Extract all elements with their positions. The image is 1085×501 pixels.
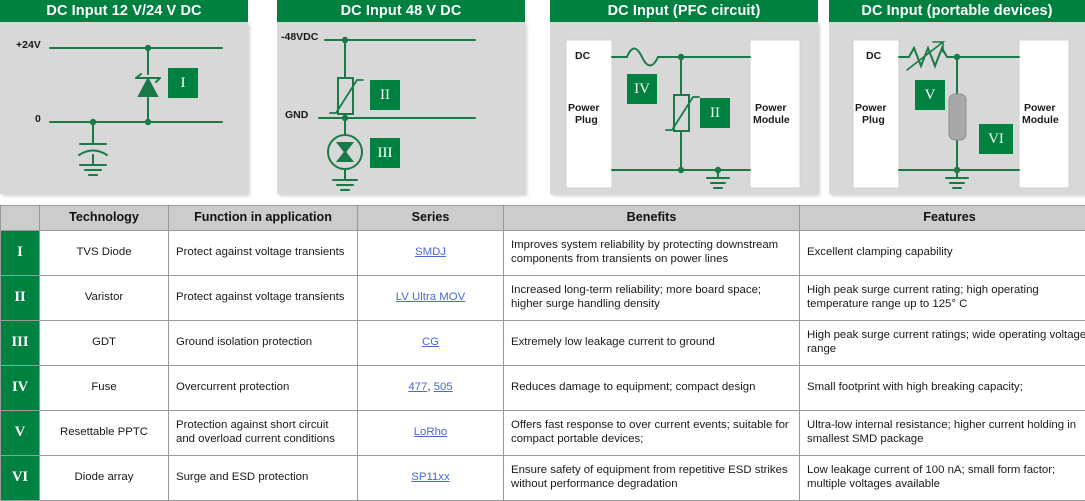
table-row: IIIGDTGround isolation protectionCGExtre… [1, 321, 1085, 366]
benefits-cell: Increased long-term reliability; more bo… [504, 276, 800, 321]
technology-cell: Diode array [40, 456, 169, 501]
row-number-cell: IV [1, 366, 40, 411]
rail-label-top: -48VDC [281, 31, 318, 43]
source-label-dc: DC [866, 50, 881, 62]
series-link[interactable]: LoRho [414, 426, 448, 438]
load-label-module: Module [753, 114, 790, 126]
technology-cell: Fuse [40, 366, 169, 411]
table-header-row: Technology Function in application Serie… [1, 206, 1085, 231]
series-cell: SMDJ [358, 231, 504, 276]
component-tag-II: II [370, 80, 400, 110]
header-function: Function in application [169, 206, 358, 231]
function-cell: Overcurrent protection [169, 366, 358, 411]
rail-label-top: +24V [16, 39, 41, 51]
panel-title: DC Input (portable devices) [829, 0, 1085, 22]
features-cell: Low leakage current of 100 nA; small for… [800, 456, 1085, 501]
row-number-cell: II [1, 276, 40, 321]
header-number [1, 206, 40, 231]
technology-cell: TVS Diode [40, 231, 169, 276]
component-tag-IV: IV [627, 74, 657, 104]
junction-dot [342, 115, 348, 121]
features-cell: High peak surge current rating; high ope… [800, 276, 1085, 321]
row-number-cell: VI [1, 456, 40, 501]
function-cell: Protect against voltage transients [169, 231, 358, 276]
benefits-cell: Ensure safety of equipment from repetiti… [504, 456, 800, 501]
series-link[interactable]: LV Ultra MOV [396, 291, 465, 303]
circuit-schematic-varistor-gdt [277, 22, 525, 194]
header-technology: Technology [40, 206, 169, 231]
source-label-power: Power [855, 102, 887, 114]
series-link[interactable]: 477 [408, 381, 427, 393]
row-number-cell: V [1, 411, 40, 456]
function-cell: Protect against voltage transients [169, 276, 358, 321]
series-link[interactable]: SMDJ [415, 246, 446, 258]
benefits-cell: Improves system reliability by protectin… [504, 231, 800, 276]
junction-dot [954, 167, 960, 173]
features-cell: Ultra-low internal resistance; higher cu… [800, 411, 1085, 456]
series-link[interactable]: SP11xx [411, 471, 449, 483]
junction-dot [145, 119, 151, 125]
series-cell: CG [358, 321, 504, 366]
benefits-cell: Extremely low leakage current to ground [504, 321, 800, 366]
circuit-panel-dc-48v: DC Input 48 V DC [277, 0, 525, 194]
source-label-plug: Plug [575, 114, 598, 126]
junction-dot [90, 119, 96, 125]
junction-dot [678, 167, 684, 173]
series-cell: 477, 505 [358, 366, 504, 411]
table-row: IVFuseOvercurrent protection477, 505Redu… [1, 366, 1085, 411]
panel-title: DC Input (PFC circuit) [550, 0, 818, 22]
circuit-diagrams-row: DC Input 12 V/24 V DC [0, 0, 1085, 200]
header-features: Features [800, 206, 1085, 231]
features-cell: High peak surge current ratings; wide op… [800, 321, 1085, 366]
load-label-module: Module [1022, 114, 1059, 126]
benefits-cell: Offers fast response to over current eve… [504, 411, 800, 456]
load-label-power: Power [1024, 102, 1056, 114]
source-label-dc: DC [575, 50, 590, 62]
function-cell: Surge and ESD protection [169, 456, 358, 501]
series-link[interactable]: 505 [434, 381, 453, 393]
circuit-panel-pfc: DC Input (PFC circuit) [550, 0, 818, 194]
rail-label-bottom: 0 [35, 113, 41, 125]
component-tag-V: V [915, 80, 945, 110]
series-cell: LV Ultra MOV [358, 276, 504, 321]
features-cell: Small footprint with high breaking capac… [800, 366, 1085, 411]
series-cell: SP11xx [358, 456, 504, 501]
header-series: Series [358, 206, 504, 231]
technology-cell: Varistor [40, 276, 169, 321]
table-row: VIDiode arraySurge and ESD protectionSP1… [1, 456, 1085, 501]
technology-cell: Resettable PPTC [40, 411, 169, 456]
component-tag-II: II [700, 98, 730, 128]
panel-title: DC Input 12 V/24 V DC [0, 0, 248, 22]
table-row: VResettable PPTCProtection against short… [1, 411, 1085, 456]
load-label-power: Power [755, 102, 787, 114]
source-label-plug: Plug [862, 114, 885, 126]
junction-dot [954, 54, 960, 60]
table-row: IIVaristorProtect against voltage transi… [1, 276, 1085, 321]
component-tag-I: I [168, 68, 198, 98]
panel-title: DC Input 48 V DC [277, 0, 525, 22]
header-benefits: Benefits [504, 206, 800, 231]
function-cell: Ground isolation protection [169, 321, 358, 366]
diode-array-package [949, 94, 966, 140]
row-number-cell: III [1, 321, 40, 366]
rail-label-bottom: GND [285, 109, 308, 121]
table-body: ITVS DiodeProtect against voltage transi… [1, 231, 1085, 501]
circuit-panel-portable: DC Input (portable devices) [829, 0, 1085, 194]
protection-technology-table: Technology Function in application Serie… [0, 205, 1085, 501]
junction-dot [678, 54, 684, 60]
technology-cell: GDT [40, 321, 169, 366]
row-number-cell: I [1, 231, 40, 276]
circuit-panel-dc-12-24v: DC Input 12 V/24 V DC [0, 0, 248, 194]
function-cell: Protection against short circuit and ove… [169, 411, 358, 456]
table-row: ITVS DiodeProtect against voltage transi… [1, 231, 1085, 276]
component-tag-VI: VI [979, 124, 1013, 154]
benefits-cell: Reduces damage to equipment; compact des… [504, 366, 800, 411]
junction-dot [342, 37, 348, 43]
junction-dot [145, 45, 151, 51]
component-tag-III: III [370, 138, 400, 168]
series-link[interactable]: CG [422, 336, 439, 348]
series-cell: LoRho [358, 411, 504, 456]
source-label-power: Power [568, 102, 600, 114]
features-cell: Excellent clamping capability [800, 231, 1085, 276]
junction-dot [715, 167, 721, 173]
